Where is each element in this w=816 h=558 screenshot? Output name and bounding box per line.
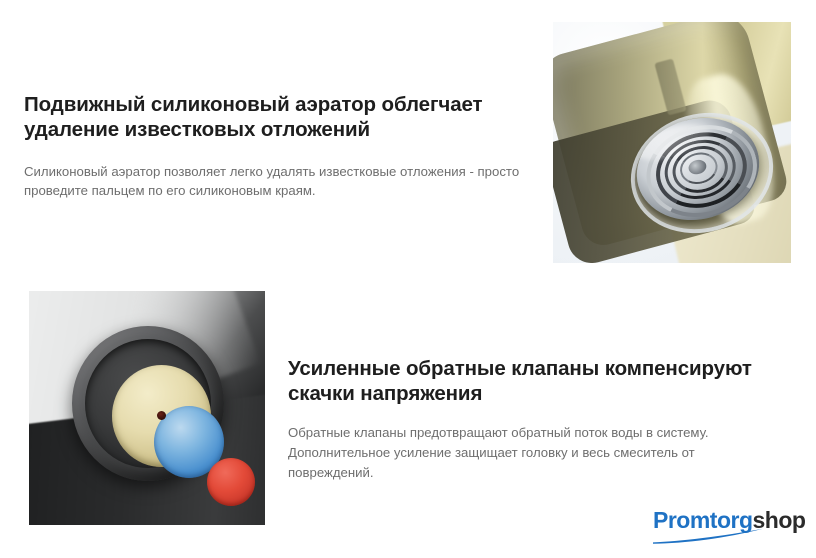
- feature-image-silicone-aerator: [553, 22, 791, 263]
- feature-image-check-valve: [29, 291, 265, 525]
- photo-valve-inner-bore: [85, 339, 211, 468]
- feature-heading-check-valves: Усиленные обратные клапаны компенсируют …: [288, 356, 768, 406]
- photo-valve-red-center: [207, 458, 255, 506]
- photo-valve-center-pin: [157, 411, 166, 420]
- brand-logo[interactable]: Promtorgshop: [653, 507, 805, 547]
- brand-swoosh-icon: [651, 528, 779, 544]
- feature-body-check-valves: Обратные клапаны предотвращают обратный …: [288, 423, 768, 483]
- feature-heading-silicone-aerator: Подвижный силиконовый аэратор облегчает …: [24, 92, 529, 142]
- photo-valve-outer-nut: [72, 326, 224, 481]
- product-feature-page: Подвижный силиконовый аэратор облегчает …: [0, 0, 816, 558]
- feature-body-silicone-aerator: Силиконовый аэратор позволяет легко удал…: [24, 162, 529, 200]
- feature-block-check-valves-text: Усиленные обратные клапаны компенсируют …: [288, 356, 768, 483]
- feature-block-silicone-aerator-text: Подвижный силиконовый аэратор облегчает …: [24, 92, 529, 200]
